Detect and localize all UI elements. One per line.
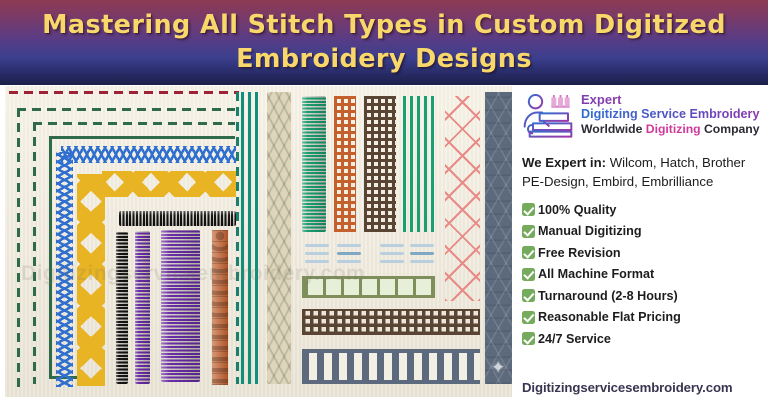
- info-panel: Expert Digitizing Service Embroidery Wor…: [519, 86, 768, 403]
- stitch-short-dash-paleblue-9: [380, 260, 404, 263]
- stitch-short-dash-paleblue-4: [337, 244, 361, 247]
- stitch-satin-zigzag-gold-vertical: [77, 174, 105, 386]
- website-url[interactable]: Digitizingservicesembroidery.com: [522, 380, 733, 395]
- check-icon: [522, 311, 535, 324]
- expertise-line: We Expert in: Wilcom, Hatch, Brother PE-…: [522, 154, 766, 191]
- logo-worldwide: Worldwide: [581, 122, 646, 136]
- stitch-open-net-brown-horizontal: [302, 309, 480, 335]
- stitch-braid-cream-vertical: [267, 92, 291, 384]
- check-icon: [522, 225, 535, 238]
- check-icon: [522, 289, 535, 302]
- stitch-running-forest-outer-left: [17, 108, 20, 391]
- list-item: Manual Digitizing: [522, 225, 768, 238]
- stitch-short-dash-paleblue-10: [410, 244, 434, 247]
- sparkle-icon: ✦: [491, 359, 505, 376]
- stitch-short-dash-paleblue-1: [305, 244, 329, 247]
- brand-logo-text: Expert Digitizing Service Embroidery Wor…: [581, 90, 760, 137]
- stitch-blanket-olive-horizontal: [302, 276, 435, 298]
- stitch-satin-green-block: [302, 96, 326, 232]
- header-banner: Mastering All Stitch Types in Custom Dig…: [0, 0, 768, 85]
- stitch-open-net-brown-vertical: [364, 96, 396, 232]
- stitch-straight-teal-stripes: [241, 92, 259, 384]
- list-item-label: All Machine Format: [538, 268, 654, 281]
- stitch-straight-forest-inner-top: [49, 136, 235, 139]
- stitch-running-crimson-top: [9, 91, 239, 94]
- stitch-open-net-rust-vertical: [334, 96, 356, 232]
- infographic-page: Mastering All Stitch Types in Custom Dig…: [0, 0, 768, 403]
- check-icon: [522, 203, 535, 216]
- stitch-running-forest-outer-top: [17, 108, 235, 111]
- stitch-satin-zigzag-gold-horizontal: [102, 171, 236, 197]
- check-icon: [522, 332, 535, 345]
- stitch-satin-purple-wide: [161, 230, 200, 382]
- stitch-zigzag-blue-vertical: [56, 152, 73, 387]
- stitch-running-teal-dashed: [236, 92, 239, 384]
- list-item-label: Free Revision: [538, 247, 621, 260]
- list-item: All Machine Format: [522, 268, 768, 281]
- logo-line-expert: Expert: [581, 92, 760, 107]
- stitch-satin-black-horizontal: [119, 211, 236, 226]
- stitch-straight-forest-inner-left: [49, 136, 52, 376]
- features-checklist: 100% Quality Manual Digitizing Free Revi…: [522, 203, 768, 345]
- list-item: Reasonable Flat Pricing: [522, 311, 768, 324]
- stitch-short-dash-paleblue-12: [410, 260, 434, 263]
- list-item-label: 100% Quality: [538, 204, 616, 217]
- page-title: Mastering All Stitch Types in Custom Dig…: [24, 9, 744, 76]
- stitch-short-dash-paleblue-5: [337, 252, 361, 255]
- logo-line-company: Worldwide Digitizing Company: [581, 122, 760, 137]
- list-item: Free Revision: [522, 246, 768, 259]
- stitch-short-dash-paleblue-2: [305, 252, 329, 255]
- stitch-chain-rust-vertical: [212, 230, 228, 385]
- brand-logo[interactable]: Expert Digitizing Service Embroidery Wor…: [519, 86, 768, 140]
- stitch-satin-purple-narrow: [135, 231, 150, 384]
- list-item-label: 24/7 Service: [538, 333, 611, 346]
- stitch-running-forest-mid-top: [33, 122, 235, 125]
- list-item-label: Turnaround (2-8 Hours): [538, 290, 678, 303]
- stitch-straight-green-stripes: [403, 96, 435, 232]
- stitch-short-dash-paleblue-11: [410, 252, 434, 255]
- stitch-running-forest-outer-right: [33, 122, 36, 384]
- stitch-lattice-coral-vertical: [445, 96, 480, 301]
- list-item: 24/7 Service: [522, 332, 768, 345]
- stitch-honeycomb-slate-panel: [485, 92, 512, 384]
- check-icon: [522, 268, 535, 281]
- check-icon: [522, 246, 535, 259]
- stitch-short-dash-paleblue-8: [380, 252, 404, 255]
- stitch-satin-black-vertical: [116, 232, 128, 384]
- logo-company: Company: [704, 122, 760, 136]
- embroidery-stitch-sampler-image: ✦ Digitizingserviceembroidery.com: [5, 86, 512, 397]
- list-item-label: Reasonable Flat Pricing: [538, 311, 681, 324]
- expertise-label: We Expert in:: [522, 155, 606, 170]
- stitch-short-dash-paleblue-3: [305, 260, 329, 263]
- list-item: 100% Quality: [522, 203, 768, 216]
- list-item: Turnaround (2-8 Hours): [522, 289, 768, 302]
- stitch-short-dash-paleblue-7: [380, 244, 404, 247]
- logo-line-service: Digitizing Service Embroidery: [581, 107, 760, 122]
- stitch-short-dash-paleblue-6: [337, 260, 361, 263]
- logo-digitizing: Digitizing: [646, 122, 704, 136]
- stitch-zigzag-blue-horizontal: [61, 146, 236, 163]
- list-item-label: Manual Digitizing: [538, 225, 642, 238]
- stitch-ladder-slate-horizontal: [302, 349, 480, 384]
- embroidery-machine-operator-icon: [521, 90, 575, 140]
